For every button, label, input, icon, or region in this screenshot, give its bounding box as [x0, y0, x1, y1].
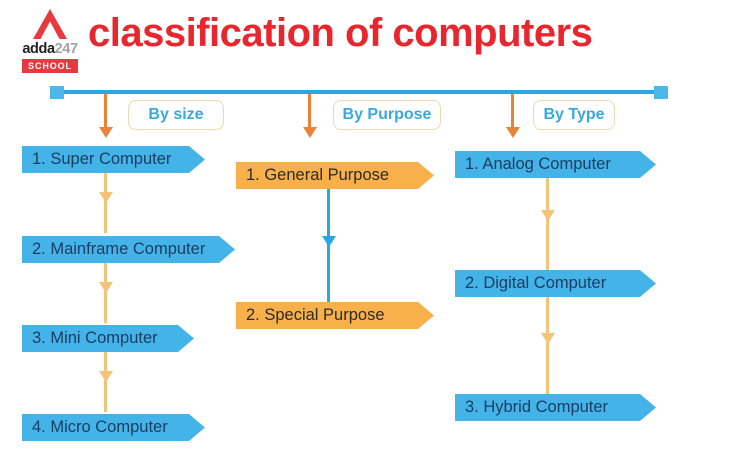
logo-brand-text: adda [22, 41, 54, 57]
page-title: classification of computers [88, 11, 592, 56]
connector-by-size-2-3 [99, 263, 113, 323]
connector-by-purpose-1-2 [322, 189, 336, 302]
logo-wordmark: adda247 [14, 42, 86, 57]
item-by-purpose-2[interactable]: 2. Special Purpose [236, 302, 434, 329]
adda-triangle-logo-icon [32, 8, 68, 42]
connector-by-type-2-3 [541, 297, 555, 396]
branch-arrow-by-purpose [303, 94, 317, 138]
item-by-type-1[interactable]: 1. Analog Computer [455, 151, 656, 178]
logo-sub-label: SCHOOL [22, 59, 78, 73]
item-by-type-3[interactable]: 3. Hybrid Computer [455, 394, 656, 421]
logo-brand-number: 247 [55, 41, 78, 57]
item-by-type-2[interactable]: 2. Digital Computer [455, 270, 656, 297]
branch-arrow-by-type [506, 94, 520, 138]
connector-cap-left [50, 86, 64, 99]
branch-arrow-by-size [99, 94, 113, 138]
connector-cap-right [654, 86, 668, 99]
item-by-size-4[interactable]: 4. Micro Computer [22, 414, 205, 441]
connector-by-size-3-4 [99, 352, 113, 412]
connector-by-size-1-2 [99, 173, 113, 233]
item-by-size-3[interactable]: 3. Mini Computer [22, 325, 194, 352]
branch-label-by-purpose[interactable]: By Purpose [333, 100, 441, 130]
item-by-size-1[interactable]: 1. Super Computer [22, 146, 205, 173]
branch-label-by-size[interactable]: By size [128, 100, 224, 130]
top-connector-bar [57, 90, 662, 94]
item-by-size-2[interactable]: 2. Mainframe Computer [22, 236, 235, 263]
item-by-purpose-1[interactable]: 1. General Purpose [236, 162, 434, 189]
branch-label-by-type[interactable]: By Type [533, 100, 615, 130]
connector-by-type-1-2 [541, 178, 555, 270]
adda247-school-logo: adda247 SCHOOL [14, 6, 86, 74]
diagram-canvas: adda247 SCHOOL classification of compute… [0, 0, 731, 458]
